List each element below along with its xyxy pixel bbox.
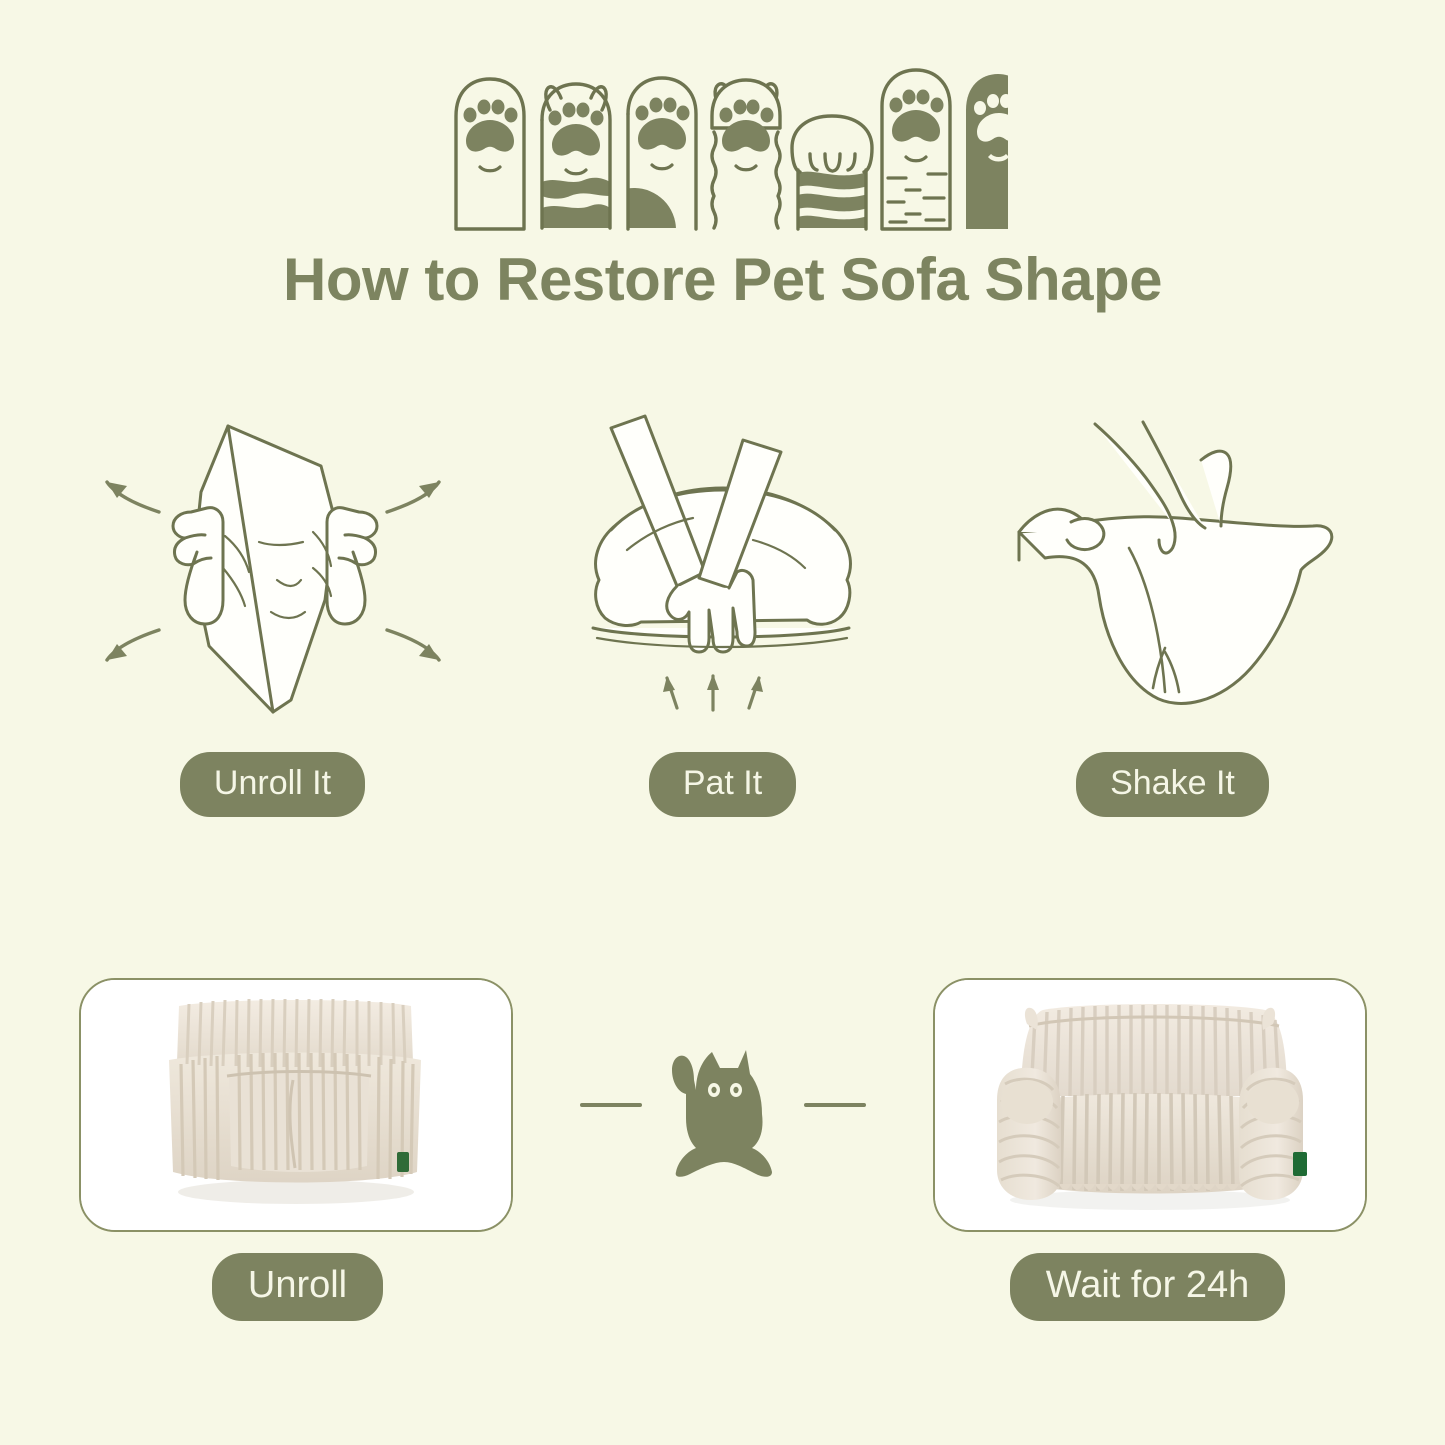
step-pat: Pat It	[498, 400, 948, 840]
paw-banner	[0, 62, 1445, 234]
comparison-row	[0, 975, 1445, 1235]
paw-2	[542, 84, 610, 228]
paw-7	[966, 74, 1008, 229]
comparison-separator	[513, 1030, 933, 1180]
hands-shaking-fabric-icon	[983, 400, 1363, 730]
steps-row: Unroll It	[0, 400, 1445, 840]
step-label-pat-it: Pat It	[649, 752, 796, 817]
brand-tag	[1293, 1152, 1307, 1176]
infographic-page: How to Restore Pet Sofa Shape	[0, 0, 1445, 1445]
paw-6	[882, 70, 950, 229]
label-slot-before: Unroll	[83, 1253, 513, 1321]
hands-patting-cushion-icon	[553, 400, 893, 730]
page-title: How to Restore Pet Sofa Shape	[0, 245, 1445, 314]
photo-before	[79, 978, 513, 1232]
label-slot-after: Wait for 24h	[933, 1253, 1363, 1321]
separator-dash-right	[804, 1103, 866, 1107]
sitting-cat-silhouette-icon	[668, 1030, 778, 1180]
paw-4	[712, 80, 780, 228]
paw-5	[792, 116, 872, 232]
separator-dash-left	[580, 1103, 642, 1107]
brand-tag	[397, 1152, 409, 1172]
step-label-shake-it: Shake It	[1076, 752, 1269, 817]
photo-label-wait-24h: Wait for 24h	[1010, 1253, 1285, 1321]
photo-after	[933, 978, 1367, 1232]
step-unroll: Unroll It	[48, 400, 498, 840]
comparison-labels: Unroll Wait for 24h	[0, 1253, 1445, 1323]
hands-unrolling-folded-bed-icon	[73, 400, 473, 730]
paw-1	[456, 79, 524, 229]
step-shake: Shake It	[948, 400, 1398, 840]
photo-label-unroll: Unroll	[212, 1253, 383, 1321]
step-label-unroll-it: Unroll It	[180, 752, 365, 817]
